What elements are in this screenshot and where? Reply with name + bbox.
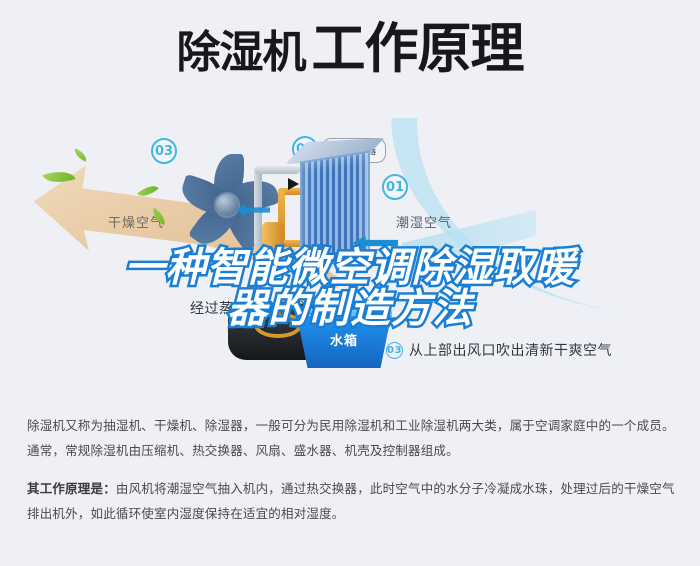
step-03-caption-text: 从上部出风口吹出清新干爽空气 (409, 340, 612, 360)
humid-air-label: 潮湿空气 (396, 212, 452, 231)
page-title: 除湿机工作原理 (0, 22, 700, 76)
paragraph-2: 其工作原理是：由风机将潮湿空气抽入机内，通过热交换器，此时空气中的水分子冷凝成水… (27, 476, 675, 527)
paragraph-2-lead: 其工作原理是： (27, 481, 116, 496)
leaf-icon (72, 148, 89, 161)
step-badge-03-inline: 03 (386, 342, 403, 359)
overlay-headline-line2: 器的制造方法 (0, 289, 700, 330)
pipe-segment (254, 166, 300, 174)
overlay-headline-line1: 一种智能微空调除湿取暖 (125, 245, 576, 291)
step-03-caption: 03 从上部出风口吹出清新干爽空气 (386, 340, 612, 360)
fan-hub (214, 192, 240, 218)
page-title-part2: 工作原理 (312, 17, 524, 80)
paragraph-2-rest: 由风机将潮湿空气抽入机内，通过热交换器，此时空气中的水分子冷凝成水珠，处理过后的… (27, 481, 675, 521)
page-title-part1: 除湿机 (177, 27, 306, 78)
overlay-headline: 一种智能微空调除湿取暖 器的制造方法 (0, 248, 700, 330)
body-copy: 除湿机又称为抽湿机、干燥机、除湿器，一般可分为民用除湿机和工业除湿机两大类，属于… (27, 413, 675, 538)
flow-arrow-right-icon (288, 178, 299, 190)
water-tank-label: 水箱 (330, 330, 358, 349)
paragraph-1: 除湿机又称为抽湿机、干燥机、除湿器，一般可分为民用除湿机和工业除湿机两大类，属于… (27, 413, 675, 464)
step-badge-01: 01 (382, 174, 408, 200)
